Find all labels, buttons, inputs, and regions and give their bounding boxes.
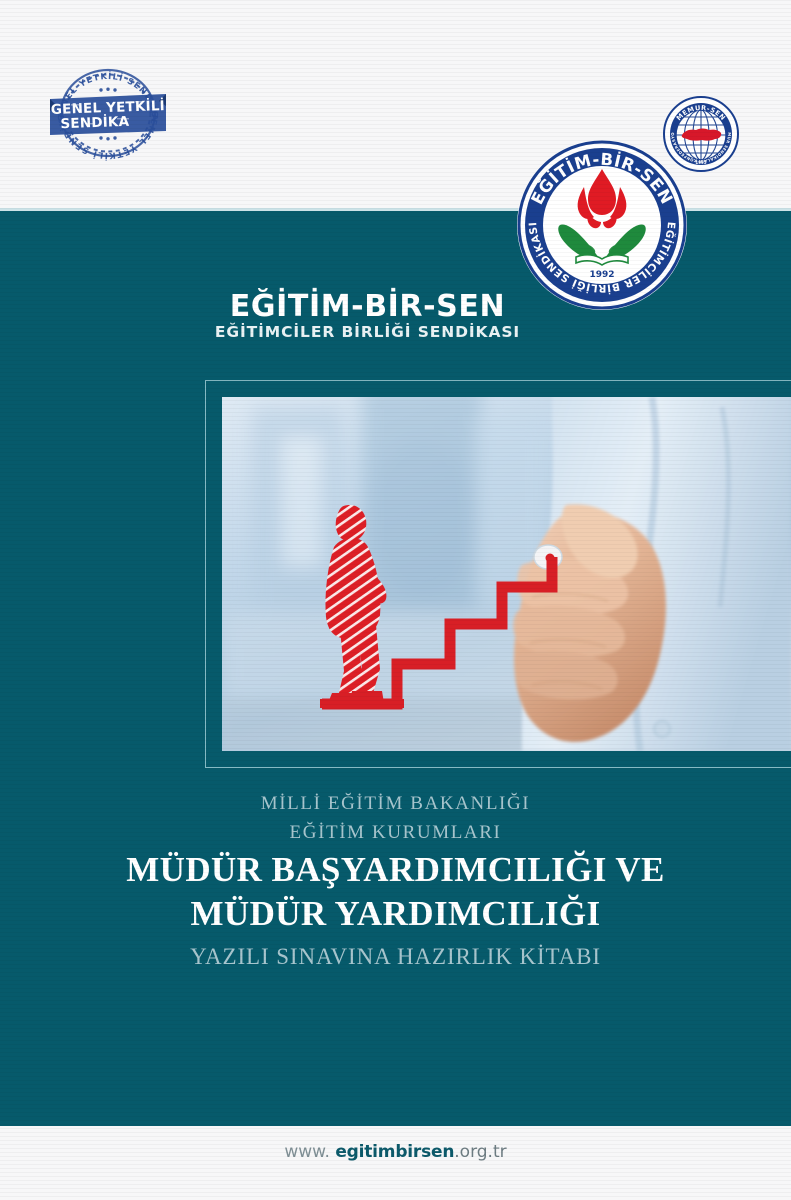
footer-domain-name: egitimbirsen <box>335 1142 454 1162</box>
genel-yetkili-sendika-stamp-icon: GENEL YETKİLİ SENDİKA GENEL YETKİLİ SEND… <box>47 63 169 161</box>
wordmark-main: EĞİTİM-BİR-SEN <box>0 291 735 322</box>
title-line-subtitle: YAZILI SINAVINA HAZIRLIK KİTABI <box>0 940 791 975</box>
svg-text:SENDİKA: SENDİKA <box>60 113 130 132</box>
svg-text:1995: 1995 <box>695 160 706 165</box>
wordmark-sub: EĞİTİMCİLER BİRLİĞİ SENDİKASI <box>0 324 735 341</box>
title-line-main-2: MÜDÜR YARDIMCILIĞI <box>0 892 791 936</box>
egitim-bir-sen-emblem-icon: 1992 EĞİTİM-BİR-SEN EĞİTİMCİLER BİRLİĞİ … <box>516 139 688 311</box>
cover-photo-career-stairs <box>222 397 791 751</box>
footer-website-url[interactable]: www. egitimbirsen.org.tr <box>0 1142 791 1162</box>
footer-tld: .org.tr <box>454 1142 506 1162</box>
cover-title-block: MİLLİ EĞİTİM BAKANLIĞI EĞİTİM KURUMLARI … <box>0 790 791 974</box>
footer-www: www. <box>284 1142 335 1162</box>
title-line-institutions: EĞİTİM KURUMLARI <box>0 819 791 848</box>
title-line-ministry: MİLLİ EĞİTİM BAKANLIĞI <box>0 790 791 819</box>
title-line-main-1: MÜDÜR BAŞYARDIMCILIĞI VE <box>0 848 791 892</box>
book-cover-page: GENEL YETKİLİ SENDİKA GENEL YETKİLİ SEND… <box>0 0 791 1200</box>
brand-wordmark: EĞİTİM-BİR-SEN EĞİTİMCİLER BİRLİĞİ SENDİ… <box>0 291 791 341</box>
svg-text:1992: 1992 <box>589 270 614 280</box>
